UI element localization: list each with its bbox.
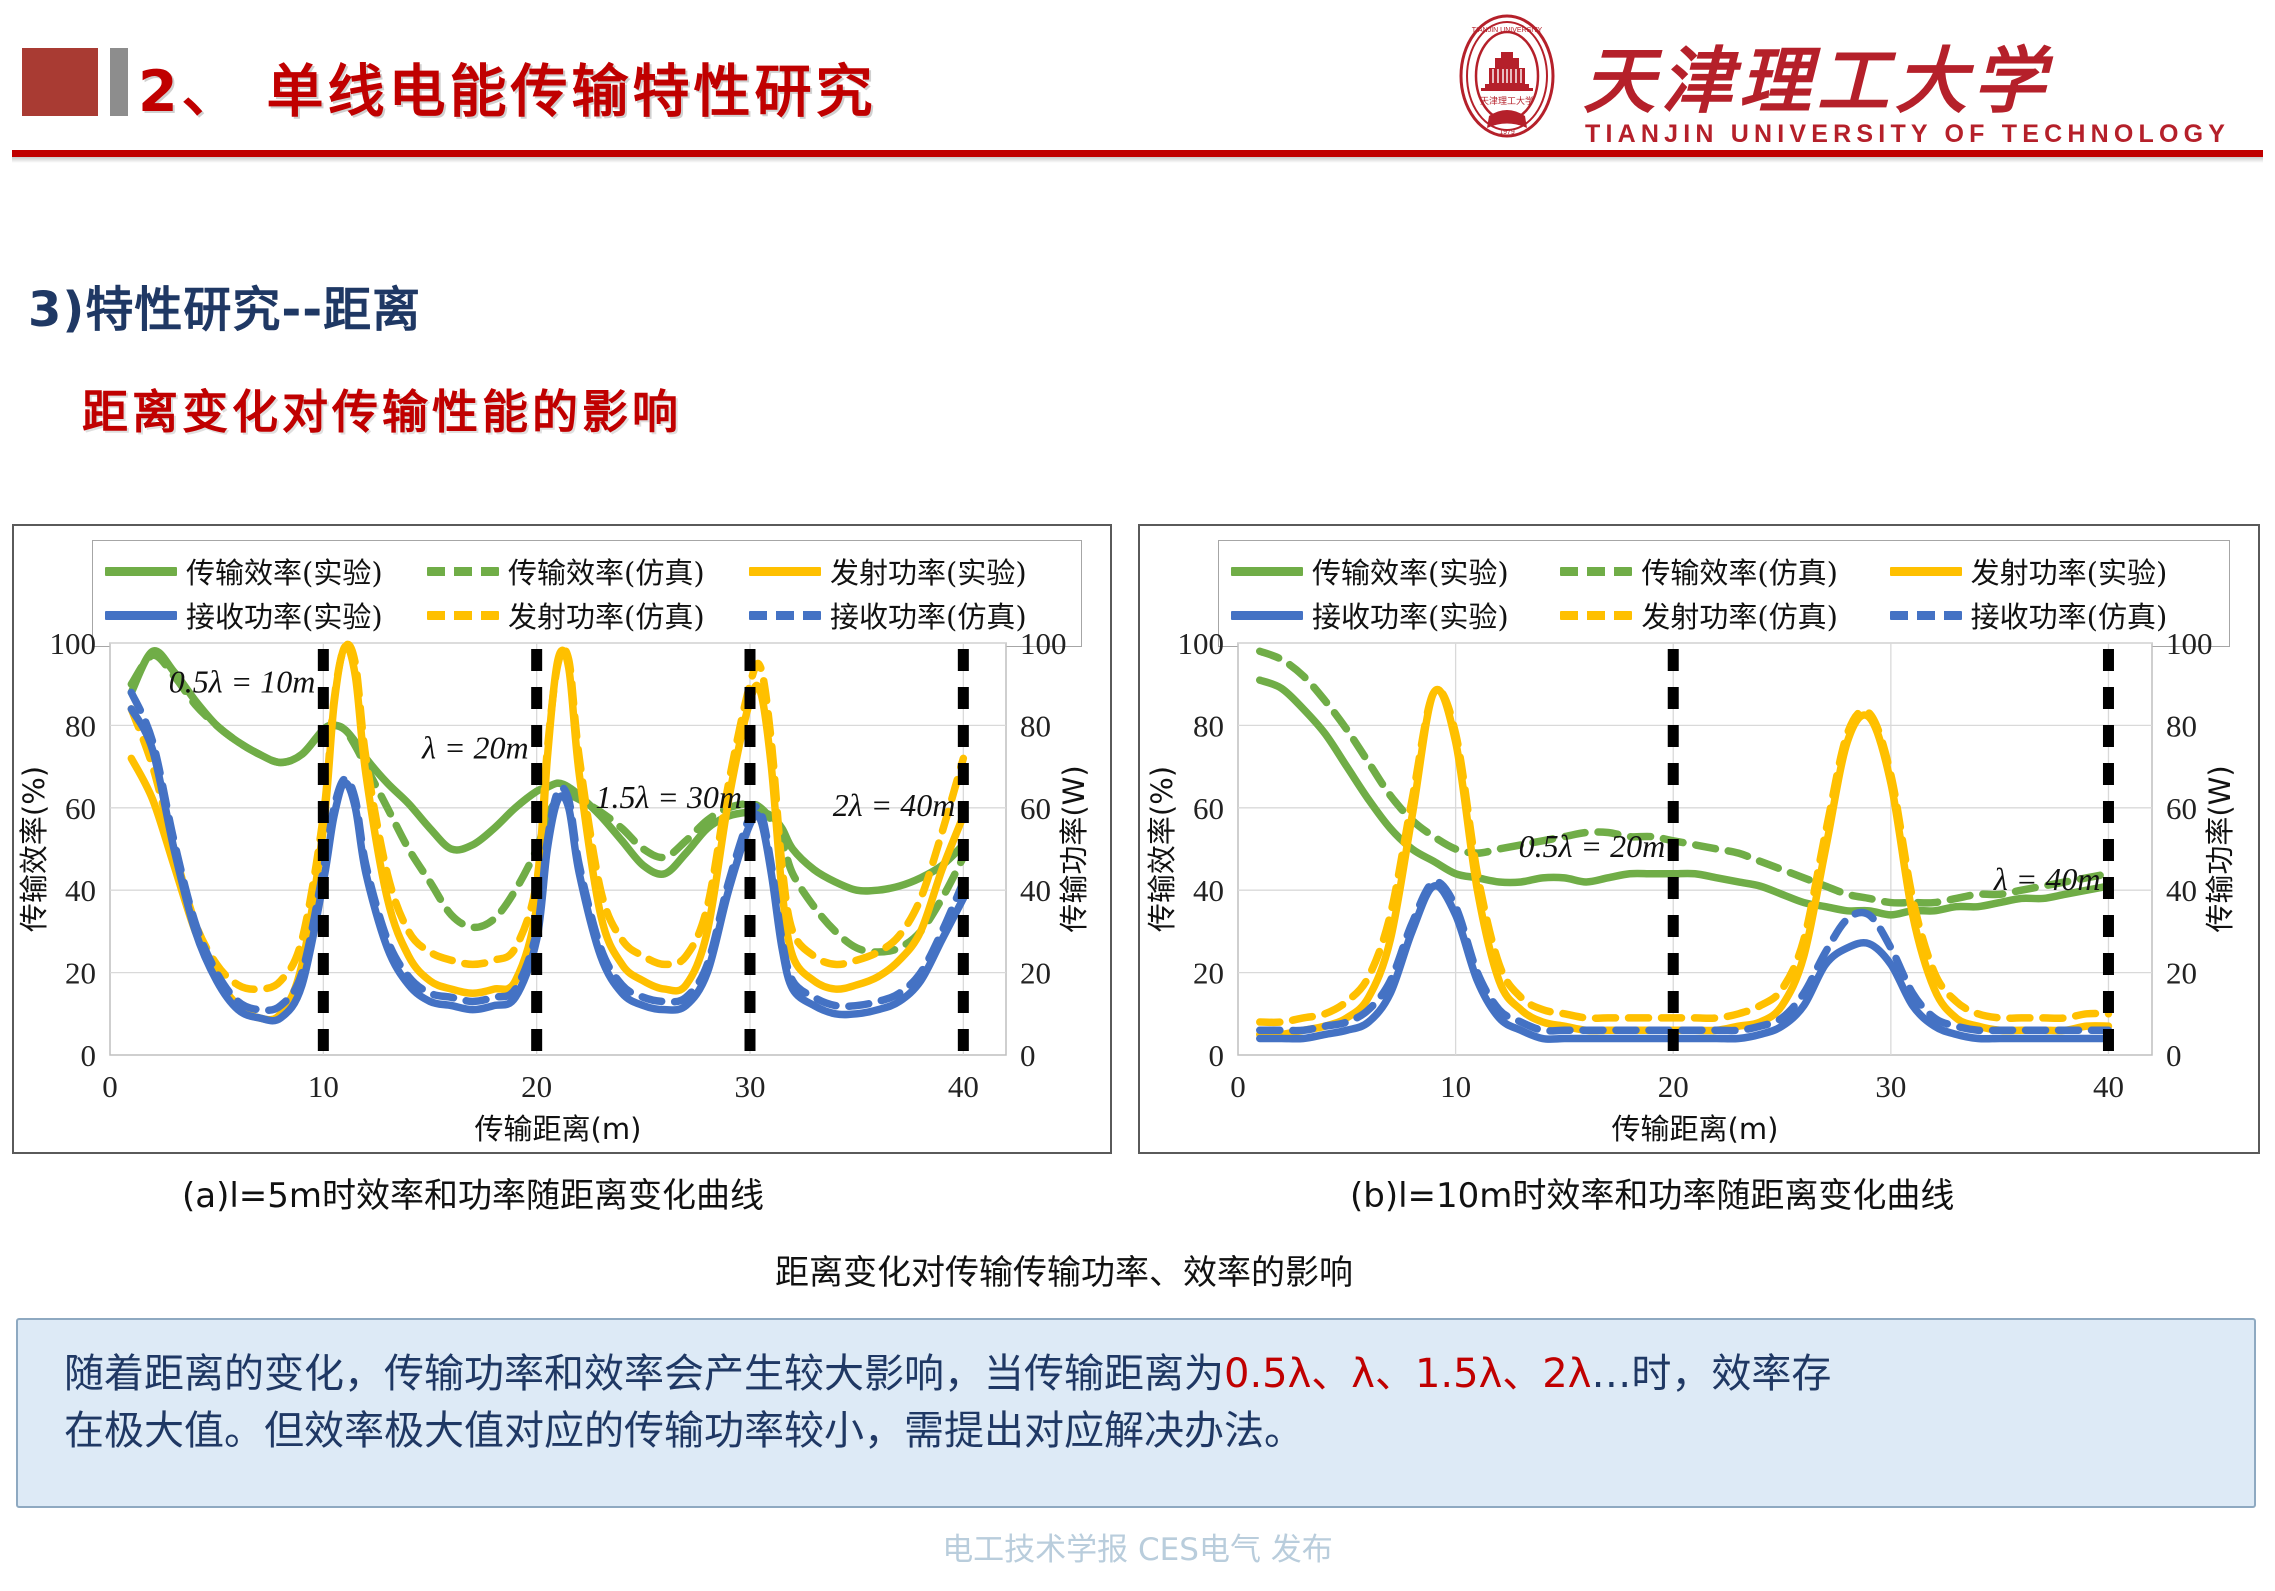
x-axis-tick-label: 30: [735, 1069, 766, 1104]
x-axis-tick-label: 20: [521, 1069, 552, 1104]
y-axis-tick-label: 20: [65, 956, 96, 991]
chart-annotation: λ = 20m: [421, 729, 529, 765]
section-heading: 3)特性研究--距离: [28, 270, 421, 340]
university-logo: 天津理工大学 TIANJIN UNIVERSITY 1979 天津理工大学 TI…: [1433, 8, 2253, 158]
summary-note-box: 随着距离的变化，传输功率和效率会产生较大影响，当传输距离为0.5λ、λ、1.5λ…: [16, 1318, 2256, 1508]
legend-label: 接收功率(仿真): [830, 594, 1027, 636]
legend-swatch-blue-dashed: [749, 611, 821, 620]
y-axis-tick-label: 40: [1193, 873, 1224, 908]
figure-caption-b: (b)l=10m时效率和功率随距离变化曲线: [1350, 1168, 1954, 1217]
y-axis-tick-label: 80: [65, 708, 96, 743]
legend-swatch-yellow-solid: [749, 567, 821, 576]
svg-text:1979: 1979: [1499, 129, 1515, 136]
x-axis-tick-label: 20: [1658, 1069, 1689, 1104]
legend-item-eff-sim: 传输效率(仿真): [1560, 550, 1889, 592]
note-line1-b: …时，效率存: [1591, 1351, 1831, 1397]
y2-axis-tick-label: 60: [1020, 791, 1051, 826]
y-axis-tick-label: 100: [1178, 631, 1225, 661]
legend-label: 传输效率(仿真): [1641, 550, 1838, 592]
note-line2: 在极大值。但效率极大值对应的传输功率较小，需提出对应解决办法。: [64, 1408, 1304, 1454]
header-divider: [12, 150, 2263, 157]
x-axis-tick-label: 0: [1230, 1069, 1246, 1104]
figure-panel-b: 传输效率(实验) 传输效率(仿真) 发射功率(实验) 接收功率(实验) 发射功率…: [1138, 524, 2260, 1154]
x-axis-tick-label: 40: [948, 1069, 979, 1104]
logo-chinese-name: 天津理工大学: [1583, 22, 2051, 127]
y-axis-title: 传输效率(%): [1145, 766, 1179, 932]
legend-item-tx-sim: 发射功率(仿真): [427, 594, 749, 636]
legend-row-1: 传输效率(实验) 传输效率(仿真) 发射功率(实验): [105, 549, 1071, 593]
y2-axis-tick-label: 20: [2166, 956, 2197, 991]
chart-annotation: λ = 40m: [1993, 861, 2101, 897]
y-axis-title: 传输效率(%): [17, 766, 51, 932]
legend-label: 发射功率(仿真): [508, 594, 705, 636]
legend-swatch-green-solid: [1231, 567, 1303, 576]
header-square-decoration: [22, 48, 98, 116]
y2-axis-tick-label: 40: [2166, 873, 2197, 908]
legend-swatch-green-dashed: [1560, 567, 1632, 576]
legend-label: 传输效率(实验): [186, 550, 383, 592]
legend-swatch-blue-dashed: [1890, 611, 1962, 620]
legend-swatch-yellow-solid: [1890, 567, 1962, 576]
y2-axis-title: 传输功率(W): [2203, 765, 2237, 932]
legend-swatch-yellow-dashed: [427, 611, 499, 620]
legend-label: 接收功率(实验): [1312, 594, 1509, 636]
chart-annotation: 0.5λ = 10m: [169, 663, 316, 699]
legend-label: 发射功率(实验): [830, 550, 1027, 592]
legend-item-tx-exp: 发射功率(实验): [1890, 550, 2219, 592]
figure-caption-a: (a)l=5m时效率和功率随距离变化曲线: [182, 1168, 764, 1217]
note-line1-a: 随着距离的变化，传输功率和效率会产生较大影响，当传输距离为: [64, 1351, 1224, 1397]
y-axis-tick-label: 20: [1193, 956, 1224, 991]
header-divider-shadow: [12, 157, 2263, 163]
x-axis-title: 传输距离(m): [1612, 1112, 1779, 1146]
y2-axis-tick-label: 100: [1020, 631, 1067, 661]
x-axis-tick-label: 30: [1875, 1069, 1906, 1104]
legend-label: 接收功率(实验): [186, 594, 383, 636]
legend-label: 发射功率(实验): [1971, 550, 2168, 592]
legend-label: 接收功率(仿真): [1971, 594, 2168, 636]
logo-english-name: TIANJIN UNIVERSITY OF TECHNOLOGY: [1585, 120, 2230, 149]
legend-item-rx-exp: 接收功率(实验): [105, 594, 427, 636]
x-axis-tick-label: 10: [308, 1069, 339, 1104]
legend-item-rx-sim: 接收功率(仿真): [1890, 594, 2219, 636]
y-axis-tick-label: 40: [65, 873, 96, 908]
y2-axis-title: 传输功率(W): [1057, 765, 1091, 932]
chart-annotation: 2λ = 40m: [833, 787, 956, 823]
legend-swatch-blue-solid: [1231, 611, 1303, 620]
legend-swatch-green-solid: [105, 567, 177, 576]
y2-axis-tick-label: 100: [2166, 631, 2213, 661]
y2-axis-tick-label: 0: [1020, 1038, 1036, 1073]
figure-panel-a: 传输效率(实验) 传输效率(仿真) 发射功率(实验) 接收功率(实验) 发射功率…: [12, 524, 1112, 1154]
y2-axis-tick-label: 20: [1020, 956, 1051, 991]
y-axis-tick-label: 80: [1193, 708, 1224, 743]
y-axis-tick-label: 0: [1209, 1038, 1225, 1073]
y-axis-tick-label: 100: [50, 631, 97, 661]
legend-item-eff-exp: 传输效率(实验): [105, 550, 427, 592]
y-axis-tick-label: 0: [81, 1038, 97, 1073]
chart-plot-a: 020406080100020406080100010203040传输距离(m)…: [14, 631, 1110, 1151]
section-subheading: 距离变化对传输性能的影响: [82, 376, 682, 442]
y2-axis-tick-label: 60: [2166, 791, 2197, 826]
legend-row-1: 传输效率(实验) 传输效率(仿真) 发射功率(实验): [1231, 549, 2219, 593]
svg-text:TIANJIN UNIVERSITY: TIANJIN UNIVERSITY: [1472, 27, 1543, 34]
x-axis-tick-label: 0: [102, 1069, 118, 1104]
chart-annotation: 1.5λ = 30m: [595, 779, 742, 815]
legend-label: 传输效率(仿真): [508, 550, 705, 592]
note-line1-highlight: 0.5λ、λ、1.5λ、2λ: [1224, 1351, 1591, 1397]
y2-axis-tick-label: 80: [1020, 708, 1051, 743]
figure-caption-main: 距离变化对传输传输功率、效率的影响: [775, 1245, 1353, 1294]
y-axis-tick-label: 60: [1193, 791, 1224, 826]
x-axis-tick-label: 10: [1440, 1069, 1471, 1104]
plot-frame: [1238, 643, 2152, 1055]
legend-swatch-blue-solid: [105, 611, 177, 620]
header-bar-decoration: [110, 48, 128, 116]
y2-axis-tick-label: 0: [2166, 1038, 2182, 1073]
plot-frame: [110, 643, 1006, 1055]
university-seal-icon: 天津理工大学 TIANJIN UNIVERSITY 1979: [1443, 12, 1571, 140]
legend-item-tx-sim: 发射功率(仿真): [1560, 594, 1889, 636]
slide-header: 2、 单线电能传输特性研究 天津理工大学 TIANJIN UNIVERSITY: [0, 0, 2275, 175]
legend-label: 发射功率(仿真): [1641, 594, 1838, 636]
y2-axis-tick-label: 40: [1020, 873, 1051, 908]
legend-item-rx-sim: 接收功率(仿真): [749, 594, 1071, 636]
page-title: 2、 单线电能传输特性研究: [138, 46, 877, 128]
legend-item-eff-sim: 传输效率(仿真): [427, 550, 749, 592]
legend-item-rx-exp: 接收功率(实验): [1231, 594, 1560, 636]
y-axis-tick-label: 60: [65, 791, 96, 826]
chart-annotation: 0.5λ = 20m: [1519, 828, 1666, 864]
legend-swatch-green-dashed: [427, 567, 499, 576]
legend-label: 传输效率(实验): [1312, 550, 1509, 592]
legend-swatch-yellow-dashed: [1560, 611, 1632, 620]
x-axis-title: 传输距离(m): [475, 1112, 642, 1146]
summary-note-text: 随着距离的变化，传输功率和效率会产生较大影响，当传输距离为0.5λ、λ、1.5λ…: [64, 1346, 2214, 1460]
legend-item-eff-exp: 传输效率(实验): [1231, 550, 1560, 592]
y2-axis-tick-label: 80: [2166, 708, 2197, 743]
chart-plot-b: 020406080100020406080100010203040传输距离(m)…: [1140, 631, 2258, 1151]
footer-watermark: 电工技术学报 CES电气 发布: [0, 1524, 2275, 1569]
x-axis-tick-label: 40: [2093, 1069, 2124, 1104]
svg-text:天津理工大学: 天津理工大学: [1480, 95, 1534, 107]
legend-item-tx-exp: 发射功率(实验): [749, 550, 1071, 592]
